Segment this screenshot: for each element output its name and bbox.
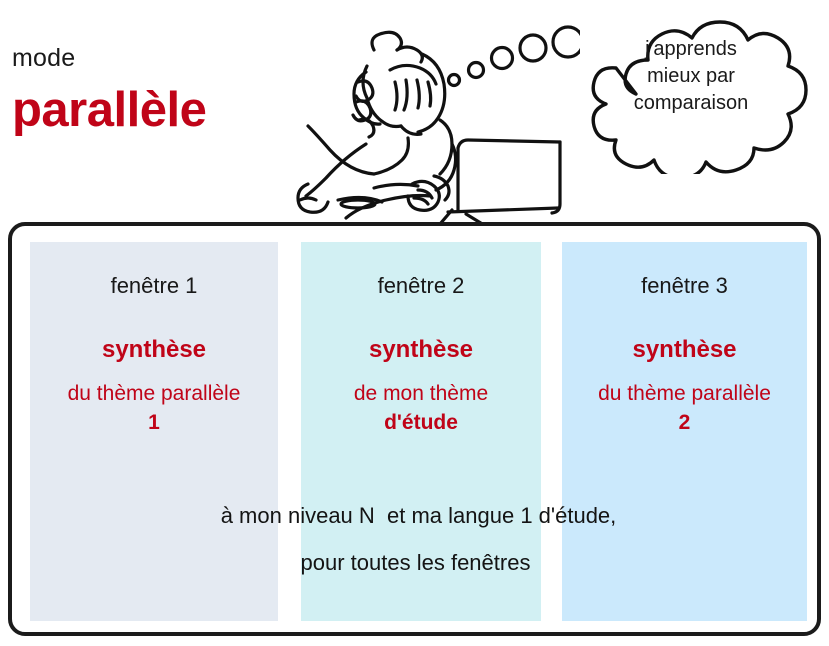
window-2-detail: de mon thème d'étude	[295, 379, 547, 437]
window-2-title: fenêtre 2	[301, 273, 541, 299]
window-column-2[interactable]: fenêtre 2 synthèse de mon thème d'étude	[301, 242, 541, 621]
page-title: parallèle	[12, 86, 206, 135]
window-1-title: fenêtre 1	[30, 273, 278, 299]
window-2-synthese-label: synthèse	[301, 336, 541, 364]
mode-label: mode	[12, 44, 75, 73]
window-3-detail: du thème parallèle 2	[556, 379, 813, 437]
windows-row: fenêtre 1 synthèse du thème parallèle 1 …	[30, 242, 807, 621]
thought-bubble-line-2: mieux par	[596, 63, 786, 90]
window-3-title: fenêtre 3	[562, 273, 807, 299]
window-1-detail-number: 1	[24, 408, 284, 437]
window-2-detail-number: d'étude	[295, 408, 547, 437]
window-3-detail-text: du thème parallèle	[598, 382, 771, 405]
window-column-1[interactable]: fenêtre 1 synthèse du thème parallèle 1	[30, 242, 278, 621]
window-1-detail-text: du thème parallèle	[68, 382, 241, 405]
header-banner: mode parallèle	[0, 0, 829, 222]
window-1-synthese-label: synthèse	[30, 336, 278, 364]
thought-bubble-line-1: j'apprends	[596, 36, 786, 63]
window-2-detail-text: de mon thème	[354, 382, 488, 405]
thought-bubble-text: j'apprends mieux par comparaison	[596, 36, 786, 117]
window-column-3[interactable]: fenêtre 3 synthèse du thème parallèle 2	[562, 242, 807, 621]
thought-bubble-line-3: comparaison	[596, 90, 786, 117]
window-1-detail: du thème parallèle 1	[24, 379, 284, 437]
windows-panel: fenêtre 1 synthèse du thème parallèle 1 …	[8, 222, 821, 636]
window-3-synthese-label: synthèse	[562, 336, 807, 364]
window-3-detail-number: 2	[556, 408, 813, 437]
